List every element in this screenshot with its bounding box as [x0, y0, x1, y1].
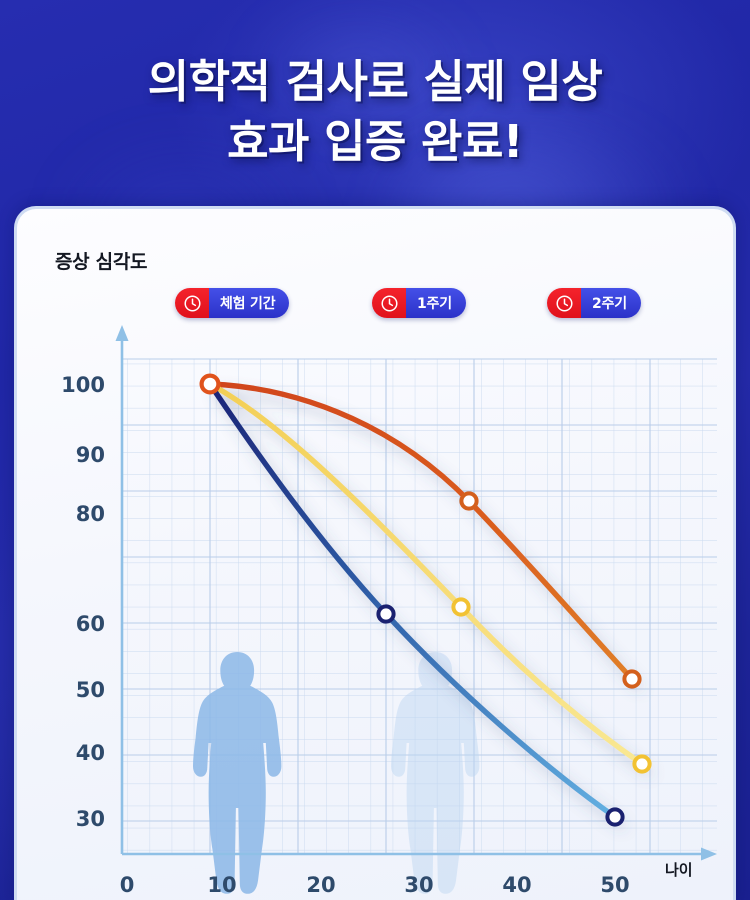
data-point-marker[interactable]	[453, 599, 468, 614]
x-axis-tick-labels: 0 10 20 30 40 50	[120, 873, 630, 897]
x-axis-title: 나이	[665, 859, 693, 880]
y-tick-label: 50	[76, 678, 105, 702]
data-point-marker[interactable]	[624, 671, 639, 686]
y-axis-tick-labels: 100 90 80 60 50 40 30	[61, 373, 105, 831]
origin-data-point-marker[interactable]	[202, 376, 219, 393]
y-tick-label: 30	[76, 807, 105, 831]
y-tick-label: 90	[76, 443, 105, 467]
poster-background: 의학적 검사로 실제 임상 효과 입증 완료! 증상 심각도 체험 기간	[0, 0, 750, 900]
x-tick-label: 0	[120, 873, 135, 897]
x-tick-label: 20	[306, 873, 335, 897]
x-tick-label: 40	[502, 873, 531, 897]
x-tick-label: 30	[404, 873, 433, 897]
y-tick-label: 60	[76, 612, 105, 636]
x-tick-label: 10	[207, 873, 236, 897]
data-point-marker[interactable]	[634, 756, 649, 771]
x-tick-label: 50	[600, 873, 629, 897]
page-title: 의학적 검사로 실제 임상 효과 입증 완료!	[0, 52, 750, 172]
chart-plot-area: 100 90 80 60 50 40 30 0 10 20 30 40 50	[17, 209, 733, 900]
y-tick-label: 80	[76, 502, 105, 526]
y-tick-label: 40	[76, 741, 105, 765]
chart-svg: 100 90 80 60 50 40 30 0 10 20 30 40 50	[17, 209, 733, 900]
data-point-marker[interactable]	[461, 493, 476, 508]
chart-card: 증상 심각도 체험 기간 1주기	[14, 206, 736, 900]
y-tick-label: 100	[61, 373, 105, 397]
data-point-marker[interactable]	[607, 809, 622, 824]
data-point-marker[interactable]	[378, 606, 393, 621]
